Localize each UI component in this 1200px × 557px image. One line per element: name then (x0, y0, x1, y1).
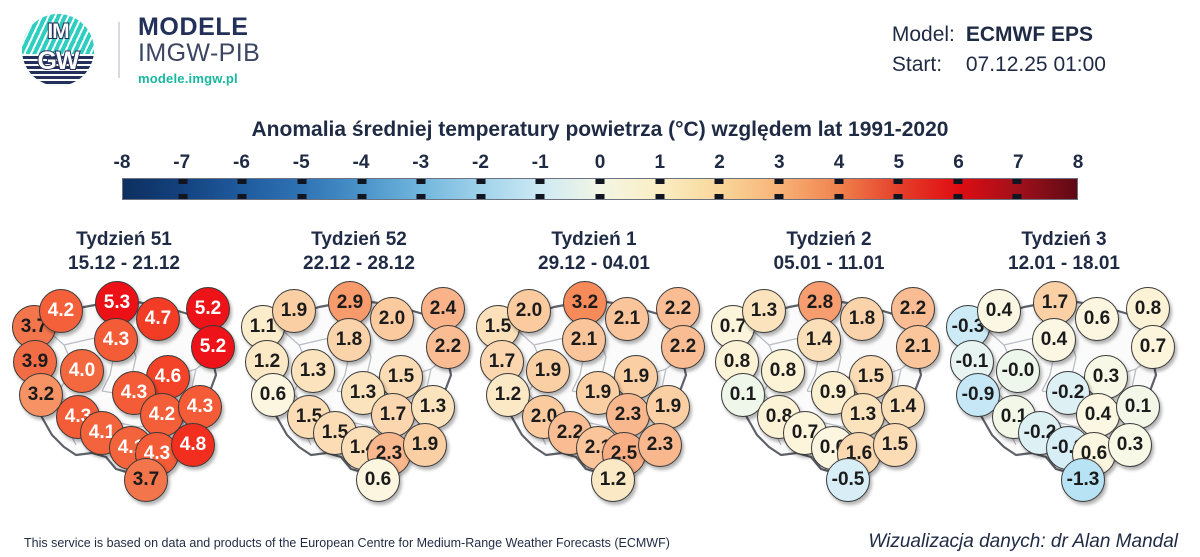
colorbar-tick-2: 2 (714, 152, 725, 174)
colorbar-tick--1: -1 (532, 152, 549, 174)
colorbar-tick-8: 8 (1073, 152, 1084, 174)
anomaly-bubble: 5.2 (186, 287, 230, 331)
start-label: Start: (892, 50, 966, 80)
anomaly-bubble: 2.0 (507, 289, 551, 333)
colorbar-tick--2: -2 (472, 152, 489, 174)
colorbar-tick--5: -5 (293, 152, 310, 174)
anomaly-bubble: 2.2 (426, 325, 470, 369)
colorbar-tickmark (297, 179, 306, 184)
week-panel-title: Tydzień 5222.12 - 28.12 (241, 228, 477, 277)
week-panel-5: Tydzień 312.01 - 18.01 -0.30.41.70.60.8-… (946, 228, 1182, 508)
colorbar-tick-0: 0 (595, 152, 606, 174)
anomaly-bubble: 3.7 (124, 458, 168, 502)
colorbar-tick--7: -7 (173, 152, 190, 174)
brand-text: MODELE IMGW-PIB modele.imgw.pl (138, 14, 260, 86)
poland-map: 3.74.25.34.75.23.94.35.24.03.24.64.34.34… (6, 283, 242, 501)
colorbar-tickmark (357, 194, 366, 199)
colorbar-tick--6: -6 (233, 152, 250, 174)
anomaly-bubble: 2.4 (421, 287, 465, 331)
logo-divider (118, 22, 120, 78)
colorbar-tickmark (178, 179, 187, 184)
colorbar-tickmark (834, 179, 843, 184)
anomaly-bubble: 5.2 (191, 325, 235, 369)
colorbar-tick--8: -8 (114, 152, 131, 174)
anomaly-bubble: 2.2 (891, 287, 935, 331)
colorbar-tickmark (476, 179, 485, 184)
poland-map: 1.52.03.22.12.21.72.12.21.91.21.91.92.02… (476, 283, 712, 501)
colorbar-tickmark (715, 194, 724, 199)
start-value: 07.12.25 01:00 (966, 50, 1106, 80)
colorbar: -8-7-6-5-4-3-2-1012345678 (122, 152, 1078, 200)
anomaly-bubble: 0.4 (1032, 318, 1076, 362)
anomaly-bubble: 2.1 (605, 297, 649, 341)
week-panel-title: Tydzień 205.01 - 11.01 (711, 228, 947, 277)
anomaly-bubble: 0.7 (1131, 325, 1175, 369)
anomaly-bubble: 4.3 (178, 385, 222, 429)
week-period-label: 12.01 - 18.01 (946, 252, 1182, 276)
colorbar-tickmark (894, 194, 903, 199)
anomaly-bubble: 1.3 (742, 289, 786, 333)
anomaly-bubble: 4.7 (136, 297, 180, 341)
colorbar-tickmark (715, 179, 724, 184)
week-panel-1: Tydzień 5115.12 - 21.12 3.74.25.34.75.23… (6, 228, 242, 508)
anomaly-bubble: 2.3 (638, 423, 682, 467)
colorbar-tickmark (953, 194, 962, 199)
brand-line-modele: MODELE (138, 14, 260, 40)
week-number-label: Tydzień 2 (711, 228, 947, 252)
week-panel-2: Tydzień 5222.12 - 28.12 1.11.92.92.02.41… (241, 228, 477, 508)
colorbar-tickmark (596, 179, 605, 184)
footer-attribution: This service is based on data and produc… (24, 536, 670, 550)
colorbar-tick--4: -4 (353, 152, 370, 174)
model-row: Model: ECMWF EPS (892, 20, 1106, 50)
poland-map: -0.30.41.70.60.8-0.10.40.7-0.0-0.90.3-0.… (946, 283, 1182, 501)
anomaly-bubble: 4.3 (94, 318, 138, 362)
colorbar-tickmark (953, 179, 962, 184)
anomaly-bubble: 1.9 (646, 385, 690, 429)
colorbar-tick-4: 4 (834, 152, 845, 174)
colorbar-bar (122, 178, 1078, 200)
anomaly-bubble: 1.3 (411, 385, 455, 429)
anomaly-bubble: 2.1 (896, 325, 940, 369)
anomaly-bubble: 0.1 (1116, 385, 1160, 429)
anomaly-bubble: 0.4 (977, 289, 1021, 333)
colorbar-tickmark (655, 179, 664, 184)
poland-map: 0.71.32.81.82.20.81.42.10.80.11.50.90.81… (711, 283, 947, 501)
anomaly-bubble: 1.5 (873, 423, 917, 467)
colorbar-tick-7: 7 (1013, 152, 1024, 174)
colorbar-tickmark (297, 194, 306, 199)
colorbar-tickmark (178, 194, 187, 199)
week-number-label: Tydzień 3 (946, 228, 1182, 252)
week-period-label: 15.12 - 21.12 (6, 252, 242, 276)
colorbar-tickmark (774, 194, 783, 199)
colorbar-tick-1: 1 (654, 152, 665, 174)
page-header: IM GW MODELE IMGW-PIB modele.imgw.pl Mod… (0, 0, 1200, 100)
imgw-logo-icon: IM GW (22, 14, 94, 86)
anomaly-bubble: 1.4 (881, 385, 925, 429)
colorbar-tickmark (536, 194, 545, 199)
poland-map: 1.11.92.92.02.41.21.82.21.30.61.51.31.51… (241, 283, 477, 501)
anomaly-bubble: 1.8 (840, 297, 884, 341)
colorbar-tickmark (357, 179, 366, 184)
colorbar-tickmark (417, 179, 426, 184)
week-panel-title: Tydzień 312.01 - 18.01 (946, 228, 1182, 277)
colorbar-tickmark (774, 179, 783, 184)
logo-gw-text: GW (22, 47, 94, 76)
anomaly-bubble: 4.8 (171, 423, 215, 467)
anomaly-bubble: 0.6 (356, 458, 400, 502)
colorbar-tickmark (238, 194, 247, 199)
start-row: Start: 07.12.25 01:00 (892, 50, 1106, 80)
week-number-label: Tydzień 52 (241, 228, 477, 252)
colorbar-tickmark (536, 179, 545, 184)
week-period-label: 22.12 - 28.12 (241, 252, 477, 276)
week-panel-3: Tydzień 129.12 - 04.01 1.52.03.22.12.21.… (476, 228, 712, 508)
week-panel-4: Tydzień 205.01 - 11.01 0.71.32.81.82.20.… (711, 228, 947, 508)
anomaly-bubble: 2.0 (370, 297, 414, 341)
imgw-logo: IM GW MODELE IMGW-PIB modele.imgw.pl (22, 14, 260, 86)
anomaly-bubble: 2.2 (656, 287, 700, 331)
week-panel-title: Tydzień 5115.12 - 21.12 (6, 228, 242, 277)
footer-author: Wizualizacja danych: dr Alan Mandal (868, 531, 1178, 553)
anomaly-bubble: 4.0 (60, 349, 104, 393)
anomaly-bubble: 0.3 (1108, 423, 1152, 467)
colorbar-tick-3: 3 (774, 152, 785, 174)
anomaly-bubble: 1.8 (327, 318, 371, 362)
brand-line-url: modele.imgw.pl (138, 71, 260, 86)
anomaly-bubble: 1.9 (403, 423, 447, 467)
anomaly-bubble: -0.0 (996, 349, 1040, 393)
anomaly-bubble: 4.2 (39, 289, 83, 333)
anomaly-bubble: 1.2 (591, 458, 635, 502)
colorbar-tickmark (894, 179, 903, 184)
colorbar-tick-6: 6 (953, 152, 964, 174)
colorbar-tickmark (1013, 194, 1022, 199)
colorbar-tick--3: -3 (412, 152, 429, 174)
anomaly-bubble: -0.5 (826, 458, 870, 502)
colorbar-tickmark (238, 179, 247, 184)
brand-line-imgw-pib: IMGW-PIB (138, 40, 260, 68)
anomaly-bubble: 1.9 (272, 289, 316, 333)
model-metadata: Model: ECMWF EPS Start: 07.12.25 01:00 (892, 20, 1106, 80)
colorbar-tick-5: 5 (893, 152, 904, 174)
anomaly-bubble: 0.8 (1126, 287, 1170, 331)
colorbar-tickmark (417, 194, 426, 199)
colorbar-tickmark (476, 194, 485, 199)
colorbar-tickmark (655, 194, 664, 199)
week-period-label: 29.12 - 04.01 (476, 252, 712, 276)
anomaly-bubble: 1.4 (797, 318, 841, 362)
colorbar-tickmark (1013, 179, 1022, 184)
colorbar-tick-labels: -8-7-6-5-4-3-2-1012345678 (122, 152, 1078, 178)
anomaly-bubble: 1.9 (526, 349, 570, 393)
model-value: ECMWF EPS (966, 20, 1093, 50)
anomaly-bubble: 0.8 (761, 349, 805, 393)
anomaly-bubble: 1.3 (291, 349, 335, 393)
colorbar-tickmark (596, 194, 605, 199)
anomaly-bubble: 0.6 (1075, 297, 1119, 341)
anomaly-bubble: -1.3 (1061, 458, 1105, 502)
logo-im-text: IM (22, 20, 94, 44)
week-panel-title: Tydzień 129.12 - 04.01 (476, 228, 712, 277)
anomaly-bubble: 2.2 (661, 325, 705, 369)
anomaly-bubble: 2.1 (562, 318, 606, 362)
model-label: Model: (892, 20, 966, 50)
week-number-label: Tydzień 51 (6, 228, 242, 252)
week-period-label: 05.01 - 11.01 (711, 252, 947, 276)
colorbar-tickmark (834, 194, 843, 199)
week-number-label: Tydzień 1 (476, 228, 712, 252)
colorbar-title: Anomalia średniej temperatury powietrza … (0, 118, 1200, 142)
